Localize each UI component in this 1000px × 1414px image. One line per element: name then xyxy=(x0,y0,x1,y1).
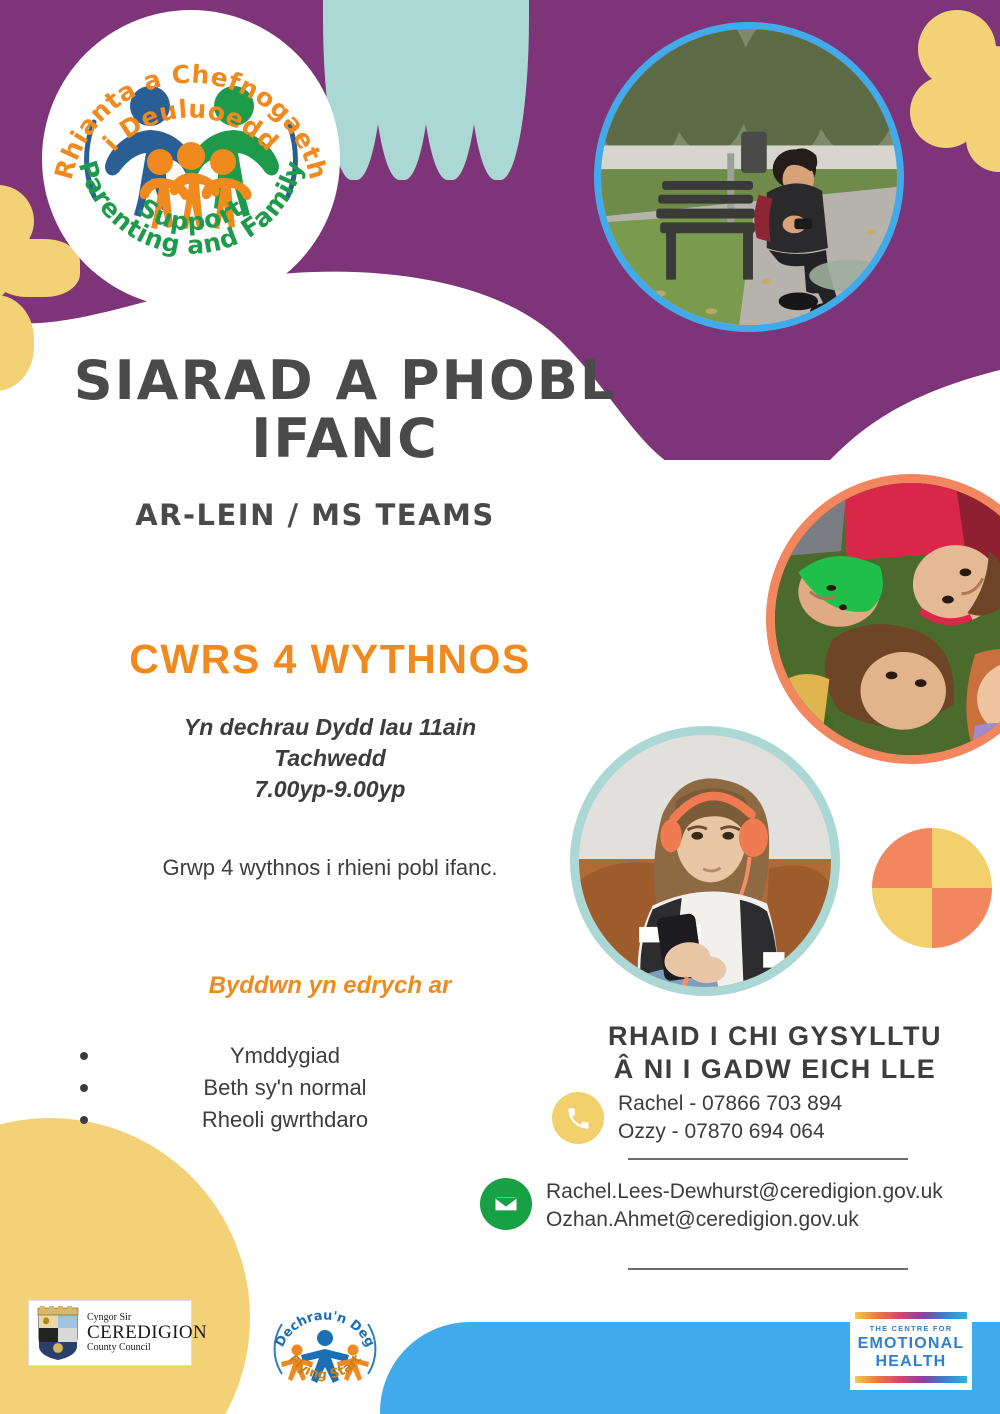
phone-line-1: Rachel - 07866 703 894 xyxy=(618,1090,842,1118)
topic-label: Rheoli gwrthdaro xyxy=(202,1107,368,1132)
emotional-health-line-1: THE CENTRE FOR xyxy=(855,1324,967,1333)
list-item: Rheoli gwrthdaro xyxy=(60,1104,510,1136)
topics-heading: Byddwn yn edrych ar xyxy=(60,972,600,1000)
contact-heading-line-1: RHAID I CHI GYSYLLTU xyxy=(560,1020,990,1053)
arc-pattern-decoration xyxy=(872,828,992,948)
page-subtitle: AR-LEIN / MS TEAMS xyxy=(60,498,570,532)
topic-label: Ymddygiad xyxy=(230,1043,340,1068)
phone-numbers: Rachel - 07866 703 894 Ozzy - 07870 694 … xyxy=(618,1090,842,1147)
yellow-corner-shape xyxy=(0,1118,250,1414)
emotional-health-line-2: EMOTIONAL xyxy=(855,1335,967,1353)
topics-list: Ymddygiad Beth sy'n normal Rheoli gwrthd… xyxy=(60,1040,510,1136)
course-date-line-1: Yn dechrau Dydd Iau 11ain xyxy=(80,712,580,743)
course-title: CWRS 4 WYTHNOS xyxy=(60,636,600,683)
course-date-line-2: Tachwedd xyxy=(80,743,580,774)
centre-for-emotional-health-logo: THE CENTRE FOR EMOTIONAL HEALTH xyxy=(850,1306,972,1390)
email-line-2: Ozhan.Ahmet@ceredigion.gov.uk xyxy=(546,1206,943,1234)
phone-icon xyxy=(552,1092,604,1144)
bullet-icon xyxy=(80,1052,88,1060)
photo-boy-on-bench xyxy=(594,22,904,332)
course-time-line: 7.00yp-9.00yp xyxy=(80,774,580,805)
bullet-icon xyxy=(80,1116,88,1124)
ceredigion-line-3: County Council xyxy=(87,1343,207,1354)
email-line-1: Rachel.Lees-Dewhurst@ceredigion.gov.uk xyxy=(546,1178,943,1206)
page-title: SIARAD A PHOBL IFANC xyxy=(60,352,630,469)
ceredigion-line-2: CEREDIGION xyxy=(87,1323,207,1343)
phone-contact-row: Rachel - 07866 703 894 Ozzy - 07870 694 … xyxy=(552,1090,842,1147)
email-contact-row: Rachel.Lees-Dewhurst@ceredigion.gov.uk O… xyxy=(480,1178,943,1235)
envelope-icon xyxy=(480,1178,532,1230)
topic-label: Beth sy'n normal xyxy=(203,1075,366,1100)
emotional-health-line-3: HEALTH xyxy=(855,1353,967,1371)
contact-heading: RHAID I CHI GYSYLLTU Â NI I GADW EICH LL… xyxy=(560,1020,990,1086)
contact-divider-bottom xyxy=(628,1268,908,1270)
gradient-bar-top-icon xyxy=(855,1312,967,1319)
flying-start-logo: Dechrau'n Deg Flying Start xyxy=(268,1294,382,1400)
list-item: Beth sy'n normal xyxy=(60,1072,510,1104)
phone-line-2: Ozzy - 07870 694 064 xyxy=(618,1118,842,1146)
photo-teens-in-circle xyxy=(766,474,1000,764)
contact-heading-line-2: Â NI I GADW EICH LLE xyxy=(560,1053,990,1086)
poster-root: Rhianta a Chefnogaeth i Deuluoedd Parent… xyxy=(0,0,1000,1414)
list-item: Ymddygiad xyxy=(60,1040,510,1072)
course-description: Grwp 4 wythnos i rhieni pobl ifanc. xyxy=(60,855,600,881)
mint-petal-icon xyxy=(467,0,529,180)
bullet-icon xyxy=(80,1084,88,1092)
yellow-blob-right-icon xyxy=(900,10,1000,185)
email-addresses: Rachel.Lees-Dewhurst@ceredigion.gov.uk O… xyxy=(546,1178,943,1235)
gradient-bar-bottom-icon xyxy=(855,1376,967,1383)
brand-logo-badge: Rhianta a Chefnogaeth i Deuluoedd Parent… xyxy=(42,10,340,308)
contact-divider xyxy=(628,1158,908,1160)
photo-girl-headphones xyxy=(570,726,840,996)
ceredigion-council-logo: Cyngor Sir CEREDIGION County Council xyxy=(28,1300,192,1366)
course-dates: Yn dechrau Dydd Iau 11ain Tachwedd 7.00y… xyxy=(80,712,580,805)
